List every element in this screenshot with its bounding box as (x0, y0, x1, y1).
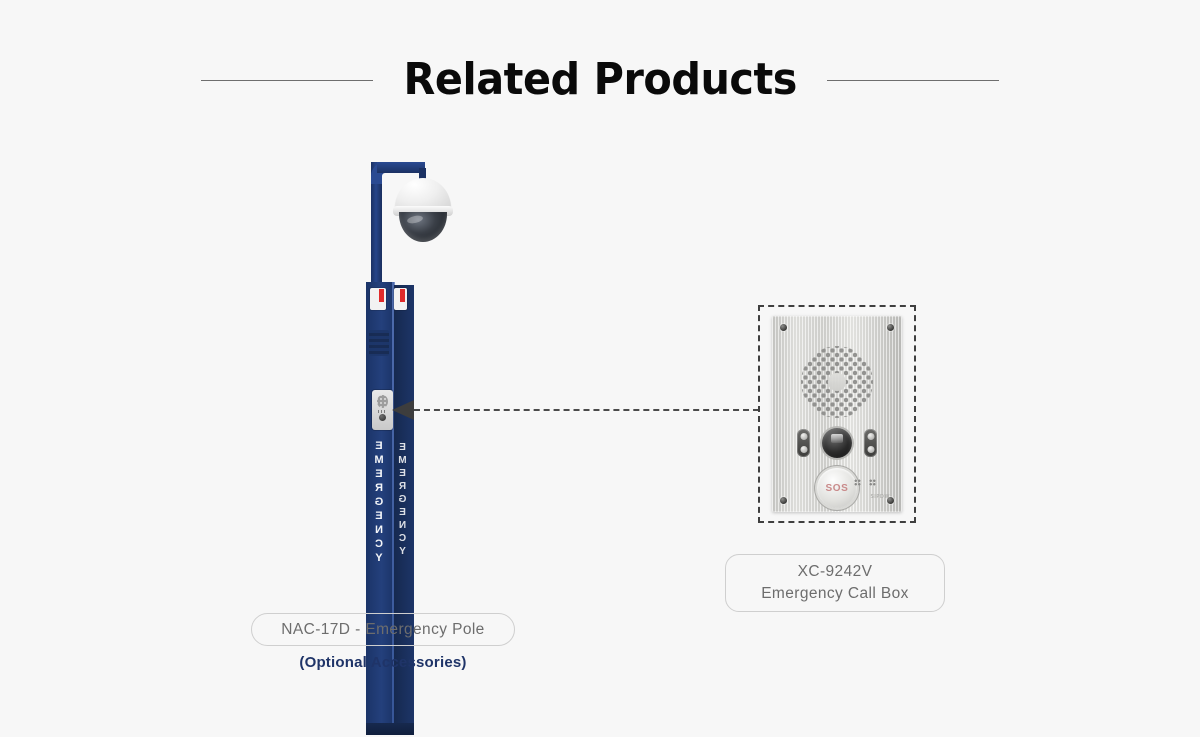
pole-vent-grille (369, 330, 389, 356)
strobe-beacon-icon (370, 288, 386, 310)
product-label-call-box: XC-9242V Emergency Call Box (725, 554, 945, 612)
heading-rule-left (201, 80, 373, 81)
optional-accessories-note: (Optional Accessories) (251, 654, 515, 671)
ptz-dome-camera-bubble (399, 212, 447, 242)
related-products-section: Related Products EMERGENCY EMERGENCY (0, 0, 1200, 737)
led-indicator-bar-left (797, 429, 810, 457)
screw-icon (887, 324, 894, 331)
product-label-name: Emergency Call Box (761, 583, 909, 605)
product-label-emergency-pole: NAC-17D - Emergency Pole (251, 613, 515, 646)
heading-rule-right (827, 80, 999, 81)
product-image-emergency-pole: EMERGENCY EMERGENCY (330, 140, 490, 610)
speaker-grille-icon (801, 346, 873, 418)
pole-arm-horizontal (377, 162, 425, 173)
sos-button[interactable]: SOS (817, 468, 857, 508)
leader-line (414, 409, 759, 411)
brand-mark: SIPDW (871, 494, 890, 500)
sos-button-label: SOS (826, 483, 849, 494)
leader-arrow-icon (392, 400, 414, 420)
led-indicator-bar-right (864, 429, 877, 457)
mini-call-button-icon (379, 414, 386, 421)
pole-emergency-text-front: EMERGENCY (374, 440, 385, 566)
screw-icon (780, 497, 787, 504)
screw-icon (780, 324, 787, 331)
call-box-panel: SOS SIPDW (772, 316, 902, 512)
mounted-call-panel (372, 390, 393, 430)
pole-emergency-text-side: EMERGENCY (398, 442, 408, 559)
product-label-model: XC-9242V (798, 561, 873, 583)
page-title: Related Products (403, 58, 796, 102)
product-image-emergency-call-box: SOS SIPDW (758, 305, 916, 523)
mini-mic-dots-icon (378, 410, 387, 413)
strobe-beacon-secondary-icon (394, 288, 407, 310)
pole-base-foot (366, 723, 414, 735)
mic-ports-icon (854, 479, 880, 486)
section-heading: Related Products (0, 48, 1200, 112)
mini-speaker-icon (377, 395, 388, 408)
camera-lens-icon (822, 428, 852, 458)
product-label-text: NAC-17D - Emergency Pole (281, 621, 484, 639)
